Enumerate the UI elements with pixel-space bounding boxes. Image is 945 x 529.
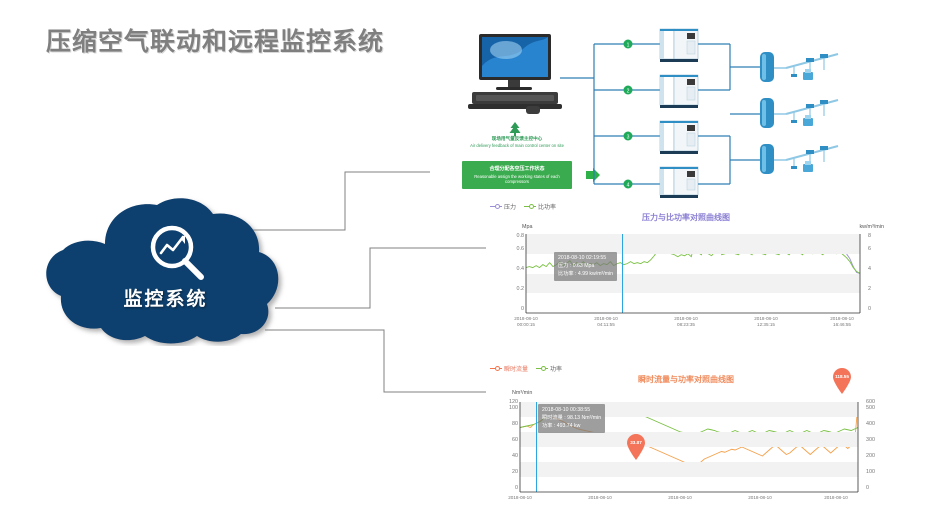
flow-marker-max-label: 118.55 xyxy=(832,374,852,379)
xtick-1: 2018-08-10 04:11:55 xyxy=(580,316,632,327)
magnifier-chart-icon xyxy=(145,222,211,284)
flow-marker-min[interactable]: 33.87 xyxy=(626,434,646,460)
flow-ytick-0: 0 xyxy=(494,485,518,491)
flow-y2tick-0: 0 xyxy=(866,485,884,491)
xtick-2-time: 08:23:35 xyxy=(660,322,712,328)
flow-marker-max[interactable]: 118.55 xyxy=(832,368,852,394)
flow-ytick-3: 60 xyxy=(494,437,518,443)
compressor-network: 1 2 3 4 xyxy=(560,26,940,198)
pressure-cursor-line xyxy=(622,234,623,313)
y2tick-4: 8 xyxy=(868,233,884,239)
flow-y2tick-3: 300 xyxy=(866,437,884,443)
xtick-4-time: 16:46:55 xyxy=(816,322,868,328)
flow-y2tick-5: 500 xyxy=(866,405,884,411)
svg-text:2: 2 xyxy=(627,88,630,94)
pressure-tooltip: 2018-08-10 02:19:55 压力 : 0.63 Mpa 比功率 : … xyxy=(554,252,617,281)
xtick-0-time: 00:00:15 xyxy=(500,322,552,328)
desktop-monitor-icon xyxy=(462,32,567,120)
pressure-chart-title: 压力与比功率对照曲线图 xyxy=(486,212,886,223)
y2tick-2: 4 xyxy=(868,266,884,272)
svg-text:1: 1 xyxy=(627,42,630,48)
pressure-tooltip-timestamp: 2018-08-10 02:19:55 xyxy=(558,255,613,263)
flow-ytick-1: 20 xyxy=(494,469,518,475)
map-pin-icon xyxy=(626,434,646,460)
flow-marker-min-label: 33.87 xyxy=(626,440,646,445)
flow-cursor-line xyxy=(536,402,537,492)
xtick-4: 2018-08-10 16:46:55 xyxy=(816,316,868,327)
legend-item-power[interactable]: 功率 xyxy=(536,364,562,373)
legend-marker-pressure xyxy=(490,204,502,210)
xtick-2: 2018-08-10 08:23:35 xyxy=(660,316,712,327)
slide-canvas: 压缩空气联动和远程监控系统 监控系统 xyxy=(0,0,945,529)
flow-ytick-6: 120 xyxy=(494,399,518,405)
legend-item-specific-power[interactable]: 比功率 xyxy=(524,202,556,211)
legend-marker-power xyxy=(536,366,548,372)
y2tick-1: 2 xyxy=(868,286,884,292)
system-topology-diagram: 现场用气量反馈主控中心 Air delivery feedback of mai… xyxy=(440,18,940,203)
legend-label-specific-power: 比功率 xyxy=(538,202,556,211)
flow-xtick-2: 2018-08-10 xyxy=(654,495,706,501)
y2tick-0: 0 xyxy=(868,306,884,312)
legend-marker-flow xyxy=(490,366,502,372)
xtick-0: 2018-08-10 00:00:15 xyxy=(500,316,552,327)
ytick-3: 0.6 xyxy=(500,246,524,252)
flow-y2tick-6: 600 xyxy=(866,399,884,405)
flow-tooltip-timestamp: 2018-08-10 00:38:55 xyxy=(542,407,601,415)
flow-xtick-3: 2018-08-10 xyxy=(734,495,786,501)
ytick-2: 0.4 xyxy=(500,266,524,272)
svg-text:3: 3 xyxy=(627,134,630,140)
flow-chart-legend[interactable]: 瞬时流量 功率 xyxy=(490,364,562,373)
page-title: 压缩空气联动和远程监控系统 xyxy=(46,22,384,58)
xtick-3: 2018-08-10 12:35:15 xyxy=(740,316,792,327)
green-info-box: 合理分配各空压工作状态 Reasonable assign the workin… xyxy=(462,161,572,189)
flow-xtick-0: 2018-08-10 xyxy=(494,495,546,501)
pressure-tooltip-line2: 比功率 : 4.99 kw/m³/min xyxy=(558,271,613,279)
monitoring-cloud[interactable]: 监控系统 xyxy=(33,196,298,346)
flow-y2tick-1: 100 xyxy=(866,469,884,475)
flow-xtick-1: 2018-08-10 xyxy=(574,495,626,501)
legend-label-flow: 瞬时流量 xyxy=(504,364,528,373)
air-compressor-icon xyxy=(660,29,698,198)
pressure-chart[interactable]: 压力 比功率 压力与比功率对照曲线图 Mpa kw/m³/min 0 0.2 0… xyxy=(486,200,886,336)
tree-icon xyxy=(508,122,522,137)
flow-tooltip: 2018-08-10 00:38:55 瞬时流量 : 98.13 Nm³/min… xyxy=(538,404,605,433)
pressure-tooltip-line1: 压力 : 0.63 Mpa xyxy=(558,263,613,271)
pressure-y-axis-unit: Mpa xyxy=(522,224,533,230)
air-tank-pipeline-icon xyxy=(760,52,838,174)
flow-tooltip-line1: 瞬时流量 : 98.13 Nm³/min xyxy=(542,415,601,423)
pressure-chart-legend[interactable]: 压力 比功率 xyxy=(490,202,556,211)
ytick-4: 0.8 xyxy=(500,233,524,239)
flow-y2tick-2: 200 xyxy=(866,453,884,459)
flow-ytick-2: 40 xyxy=(494,453,518,459)
cloud-label: 监控系统 xyxy=(33,284,298,311)
legend-item-pressure[interactable]: 压力 xyxy=(490,202,516,211)
legend-label-power: 功率 xyxy=(550,364,562,373)
svg-text:4: 4 xyxy=(627,182,630,188)
xtick-3-time: 12:35:15 xyxy=(740,322,792,328)
map-pin-icon xyxy=(832,368,852,394)
diagram-caption-en: Air delivery feedback of main control ce… xyxy=(458,143,576,148)
flow-power-chart[interactable]: 瞬时流量 功率 瞬时流量与功率对照曲线图 Nm³/min 0 20 40 60 … xyxy=(486,362,886,522)
xtick-1-time: 04:11:55 xyxy=(580,322,632,328)
flow-xtick-4: 2018-08-10 xyxy=(810,495,862,501)
ytick-1: 0.2 xyxy=(500,286,524,292)
ytick-0: 0 xyxy=(500,306,524,312)
legend-item-flow[interactable]: 瞬时流量 xyxy=(490,364,528,373)
legend-marker-specific-power xyxy=(524,204,536,210)
green-box-cn: 合理分配各空压工作状态 xyxy=(462,161,572,172)
flow-ytick-4: 80 xyxy=(494,421,518,427)
flow-y-axis-unit: Nm³/min xyxy=(512,390,532,396)
diagram-caption-cn: 现场用气量反馈主控中心 xyxy=(458,136,576,142)
y2tick-3: 6 xyxy=(868,246,884,252)
green-box-en: Reasonable assign the working states of … xyxy=(462,172,572,185)
pressure-y2-axis-unit: kw/m³/min xyxy=(859,224,884,230)
legend-label-pressure: 压力 xyxy=(504,202,516,211)
flow-chart-title: 瞬时流量与功率对照曲线图 xyxy=(486,374,886,385)
flow-ytick-5: 100 xyxy=(494,405,518,411)
flow-tooltip-line2: 功率 : 493.74 kw xyxy=(542,423,601,431)
flow-y2tick-4: 400 xyxy=(866,421,884,427)
status-node: 1 2 3 4 xyxy=(624,40,633,189)
